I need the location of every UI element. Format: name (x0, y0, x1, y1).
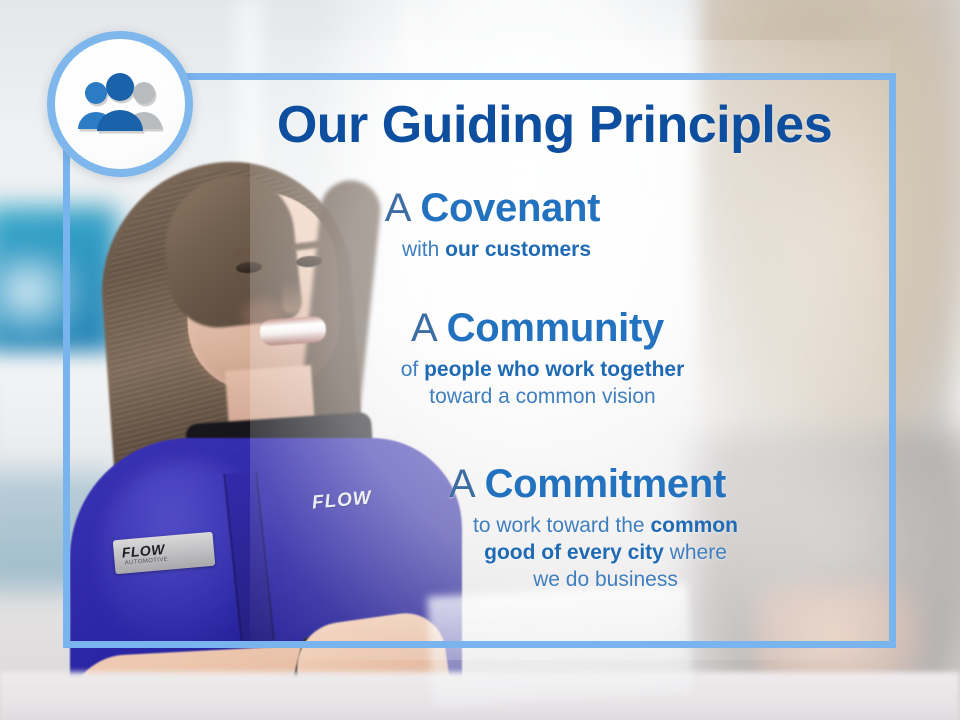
principle-article: A (449, 462, 485, 506)
principle-community: A Community of people who work together … (63, 307, 896, 411)
subtext-emphasis: our customers (445, 238, 591, 261)
principle-covenant: A Covenant with our customers (63, 187, 896, 264)
subtext-line-3: we do business (533, 568, 678, 591)
subtext-plain-2: where (664, 541, 727, 564)
page-title: Our Guiding Principles (63, 99, 896, 151)
subtext-plain: to work toward the (473, 514, 650, 537)
principle-headline: A Commitment (63, 463, 896, 505)
guiding-principles-graphic: FLOW AUTOMOTIVE FLOW (0, 0, 960, 720)
principle-subtext: of people who work together toward a com… (63, 357, 896, 411)
subtext-plain: of (401, 358, 424, 381)
principle-article: A (385, 186, 421, 230)
principle-keyword: Commitment (485, 462, 726, 506)
copy-block: Our Guiding Principles A Covenant with o… (63, 73, 896, 648)
principle-subtext: to work toward the common good of every … (63, 513, 896, 594)
subtext-emphasis-2: good of every city (484, 541, 664, 564)
subtext-line-2: toward a common vision (429, 385, 655, 408)
subtext-emphasis: people who work together (424, 358, 684, 381)
subtext-plain: with (402, 238, 445, 261)
principle-keyword: Community (447, 306, 664, 350)
principle-headline: A Community (63, 307, 896, 349)
principle-article: A (411, 306, 447, 350)
principle-keyword: Covenant (420, 186, 600, 230)
principle-commitment: A Commitment to work toward the common g… (63, 463, 896, 594)
principle-headline: A Covenant (63, 187, 896, 229)
subtext-emphasis: common (650, 514, 738, 537)
principle-subtext: with our customers (63, 237, 896, 264)
